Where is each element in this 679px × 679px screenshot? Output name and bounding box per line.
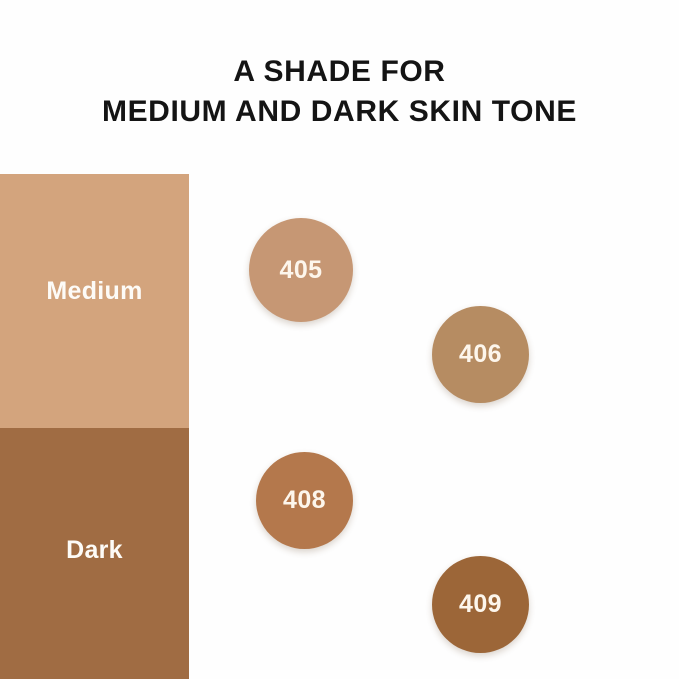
shade-chart-poster: A SHADE FOR MEDIUM AND DARK SKIN TONE Me… [0, 0, 679, 679]
shade-swatch-405-code: 405 [280, 256, 323, 285]
shade-swatch-406[interactable]: 406 [432, 306, 529, 403]
tone-band-medium-label: Medium [46, 277, 142, 306]
tone-band-group: Medium Dark [0, 174, 189, 679]
tone-band-dark-label: Dark [66, 536, 123, 565]
page-title-line-1: A SHADE FOR [0, 52, 679, 92]
shade-swatch-409-code: 409 [459, 590, 502, 619]
shade-swatch-406-code: 406 [459, 340, 502, 369]
shade-swatch-405[interactable]: 405 [249, 218, 353, 322]
tone-band-dark: Dark [0, 428, 189, 679]
page-title-line-2: MEDIUM AND DARK SKIN TONE [0, 92, 679, 132]
shade-swatch-408-code: 408 [283, 486, 326, 515]
shade-swatch-409[interactable]: 409 [432, 556, 529, 653]
shade-swatch-408[interactable]: 408 [256, 452, 353, 549]
tone-band-medium: Medium [0, 174, 189, 428]
page-title: A SHADE FOR MEDIUM AND DARK SKIN TONE [0, 52, 679, 132]
